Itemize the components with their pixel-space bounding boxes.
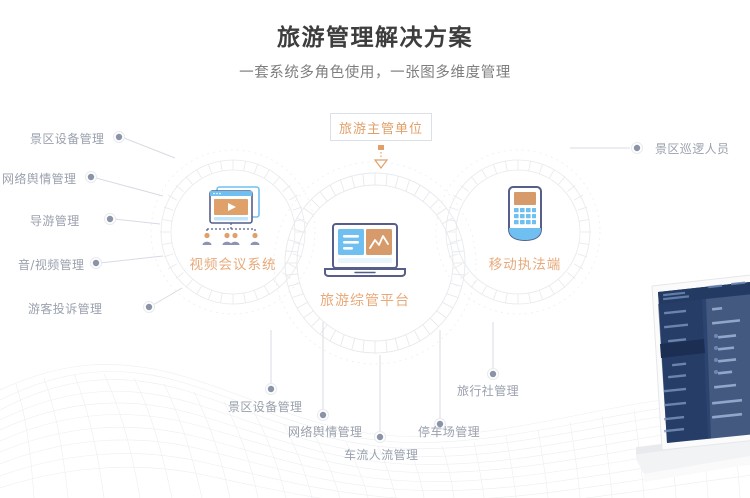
laptop-dashboard-mockup (636, 252, 750, 498)
spoke-label-bottom-2[interactable]: 网络舆情管理 (288, 424, 362, 440)
solution-overview-page: 旅游管理解决方案 一套系统多角色使用，一张图多维度管理 (0, 0, 750, 498)
right-connector-dots (632, 143, 643, 154)
node-caption: 移动执法端 (445, 253, 605, 273)
spoke-label-bottom-4[interactable]: 停车场管理 (418, 424, 480, 440)
spoke-label-bottom-5[interactable]: 旅行社管理 (457, 383, 519, 399)
node-tourism-platform[interactable]: 旅游综管平台 (285, 222, 445, 310)
laptop-dashboard-icon (285, 222, 445, 284)
dotted-down-arrow-icon (372, 145, 390, 169)
bottom-connector-lines (271, 322, 493, 431)
node-caption: 旅游综管平台 (285, 290, 445, 310)
spoke-label-bottom-1[interactable]: 景区设备管理 (228, 399, 302, 415)
spoke-label-bottom-3[interactable]: 车流人流管理 (344, 447, 418, 463)
node-mobile-enforcement[interactable]: 移动执法端 (445, 185, 605, 273)
spoke-label-right-1[interactable]: 景区巡逻人员 (655, 141, 729, 157)
spoke-label-left-2[interactable]: 网络舆情管理 (2, 171, 76, 187)
spoke-label-left-3[interactable]: 导游管理 (30, 213, 80, 229)
spoke-label-left-5[interactable]: 游客投诉管理 (28, 301, 102, 317)
mobile-device-icon (445, 185, 605, 247)
spoke-label-left-4[interactable]: 音/视频管理 (18, 257, 84, 273)
authority-badge[interactable]: 旅游主管单位 (330, 113, 432, 141)
spoke-label-left-1[interactable]: 景区设备管理 (30, 131, 104, 147)
